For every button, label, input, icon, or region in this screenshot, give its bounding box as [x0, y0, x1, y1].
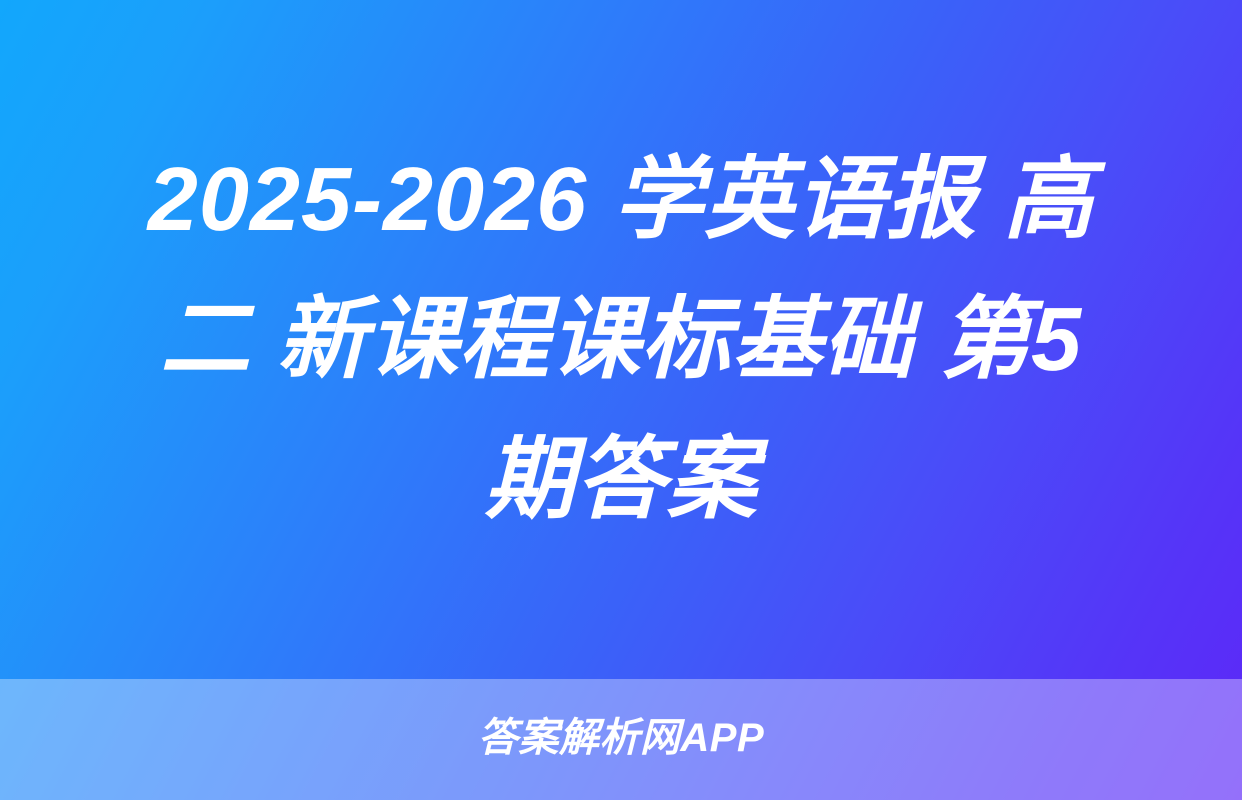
answer-cover-card: 2025-2026 学英语报 高 二 新课程课标基础 第5 期答案 答案解析网A… — [0, 0, 1242, 800]
headline-line-1: 2025-2026 学英语报 高 — [66, 130, 1176, 270]
headline-line-2: 二 新课程课标基础 第5 — [66, 270, 1176, 410]
app-brand-label: 答案解析网APP — [478, 716, 764, 760]
headline-line-3: 期答案 — [66, 410, 1176, 550]
headline-block: 2025-2026 学英语报 高 二 新课程课标基础 第5 期答案 — [0, 0, 1242, 679]
footer-band: 答案解析网APP — [0, 679, 1242, 800]
